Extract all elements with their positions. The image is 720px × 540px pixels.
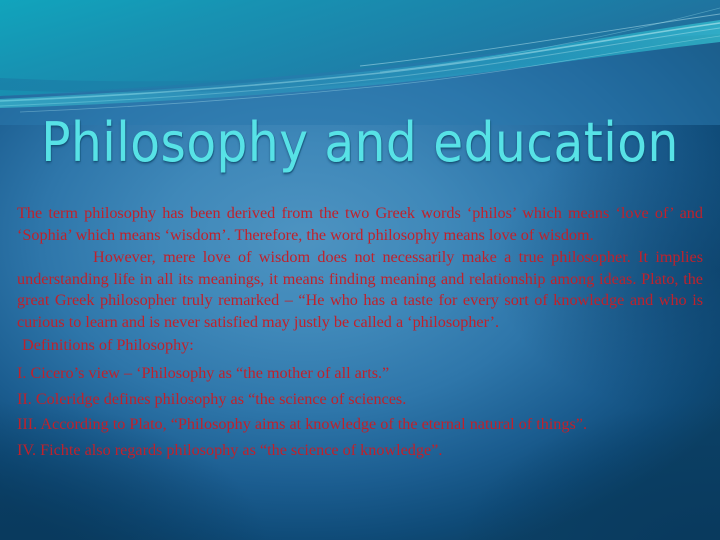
definitions-heading: Definitions of Philosophy: (17, 333, 703, 358)
presentation-slide: Philosophy and education The term philos… (0, 0, 720, 540)
decorative-swoosh-graphic (0, 0, 720, 120)
slide-body-content: The term philosophy has been derived fro… (17, 203, 703, 463)
paragraph-definition-origin: The term philosophy has been derived fro… (17, 203, 703, 246)
list-item: III. According to Plato, “Philosophy aim… (17, 412, 703, 438)
list-item: IV. Fichte also regards philosophy as “t… (17, 438, 703, 464)
paragraph-true-philosopher: However, mere love of wisdom does not ne… (17, 247, 703, 333)
slide-title: Philosophy and education (0, 112, 720, 174)
list-item: II. Coleridge defines philosophy as “the… (17, 387, 703, 413)
definitions-list: I. Cicero’s view – ‘Philosophy as “the m… (17, 361, 703, 463)
list-item: I. Cicero’s view – ‘Philosophy as “the m… (17, 361, 703, 387)
